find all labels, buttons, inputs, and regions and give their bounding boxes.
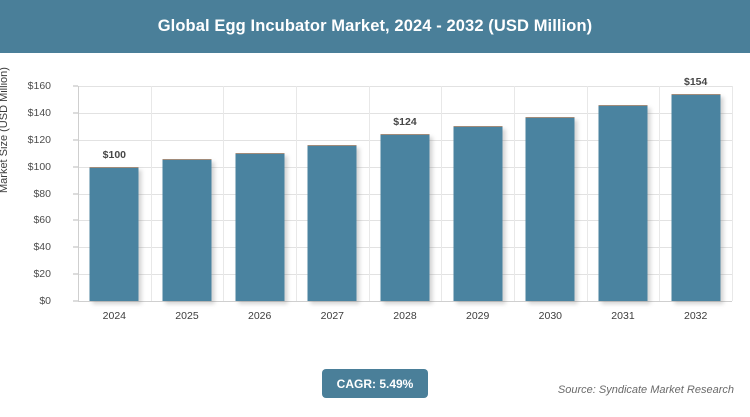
vertical-gridline: [732, 86, 733, 301]
y-axis-tick-label: $120: [0, 134, 51, 146]
x-axis-tick-label-2031: 2031: [611, 310, 634, 322]
source-note: Source: Syndicate Market Research: [558, 384, 734, 396]
x-axis-tick-label-2027: 2027: [321, 310, 344, 322]
bar-2025[interactable]: [162, 159, 211, 301]
bar-2029[interactable]: [453, 126, 502, 301]
cagr-badge: CAGR: 5.49%: [322, 369, 428, 398]
bar-group-2029: 2029: [441, 86, 514, 301]
x-axis-tick-label-2026: 2026: [248, 310, 271, 322]
page-title: Global Egg Incubator Market, 2024 - 2032…: [158, 17, 593, 36]
y-axis-tick-label: $60: [0, 214, 51, 226]
y-axis-tick-label: $160: [0, 80, 51, 92]
bar-2031[interactable]: [598, 105, 647, 301]
x-axis-tick-label-2032: 2032: [684, 310, 707, 322]
plot-area: $0$20$40$60$80$100$120$140$160 $10020242…: [78, 86, 732, 301]
bar-group-2028: $1242028: [369, 86, 442, 301]
y-axis-tick-label: $20: [0, 268, 51, 280]
bar-2024[interactable]: [90, 167, 139, 301]
bar-group-2026: 2026: [223, 86, 296, 301]
bar-group-2025: 2025: [151, 86, 224, 301]
x-axis-tick-label-2030: 2030: [539, 310, 562, 322]
bar-2032[interactable]: [671, 94, 720, 301]
x-axis-tick-label-2029: 2029: [466, 310, 489, 322]
y-axis-tick-label: $80: [0, 188, 51, 200]
bar-value-label-2024: $100: [103, 149, 126, 161]
chart-title-banner: Global Egg Incubator Market, 2024 - 2032…: [0, 0, 750, 53]
x-axis-tick-label-2028: 2028: [393, 310, 416, 322]
bar-2026[interactable]: [235, 153, 284, 301]
bar-2028[interactable]: [380, 134, 429, 301]
y-axis-tick-label: $140: [0, 107, 51, 119]
x-axis-tick-label-2024: 2024: [103, 310, 126, 322]
y-axis-tick-label: $100: [0, 161, 51, 173]
bar-group-2027: 2027: [296, 86, 369, 301]
x-axis-tick-label-2025: 2025: [175, 310, 198, 322]
bar-value-label-2032: $154: [684, 76, 707, 88]
bar-group-2032: $1542032: [659, 86, 732, 301]
y-axis-tick-label: $0: [0, 295, 51, 307]
bar-group-2024: $1002024: [78, 86, 151, 301]
market-size-bar-chart: Global Egg Incubator Market, 2024 - 2032…: [0, 0, 750, 417]
gridline-0: [78, 301, 732, 302]
bar-group-2030: 2030: [514, 86, 587, 301]
bar-group-2031: 2031: [587, 86, 660, 301]
bar-2027[interactable]: [308, 145, 357, 301]
bar-value-label-2028: $124: [393, 116, 416, 128]
y-axis-tick-label: $40: [0, 241, 51, 253]
bar-2030[interactable]: [526, 117, 575, 301]
